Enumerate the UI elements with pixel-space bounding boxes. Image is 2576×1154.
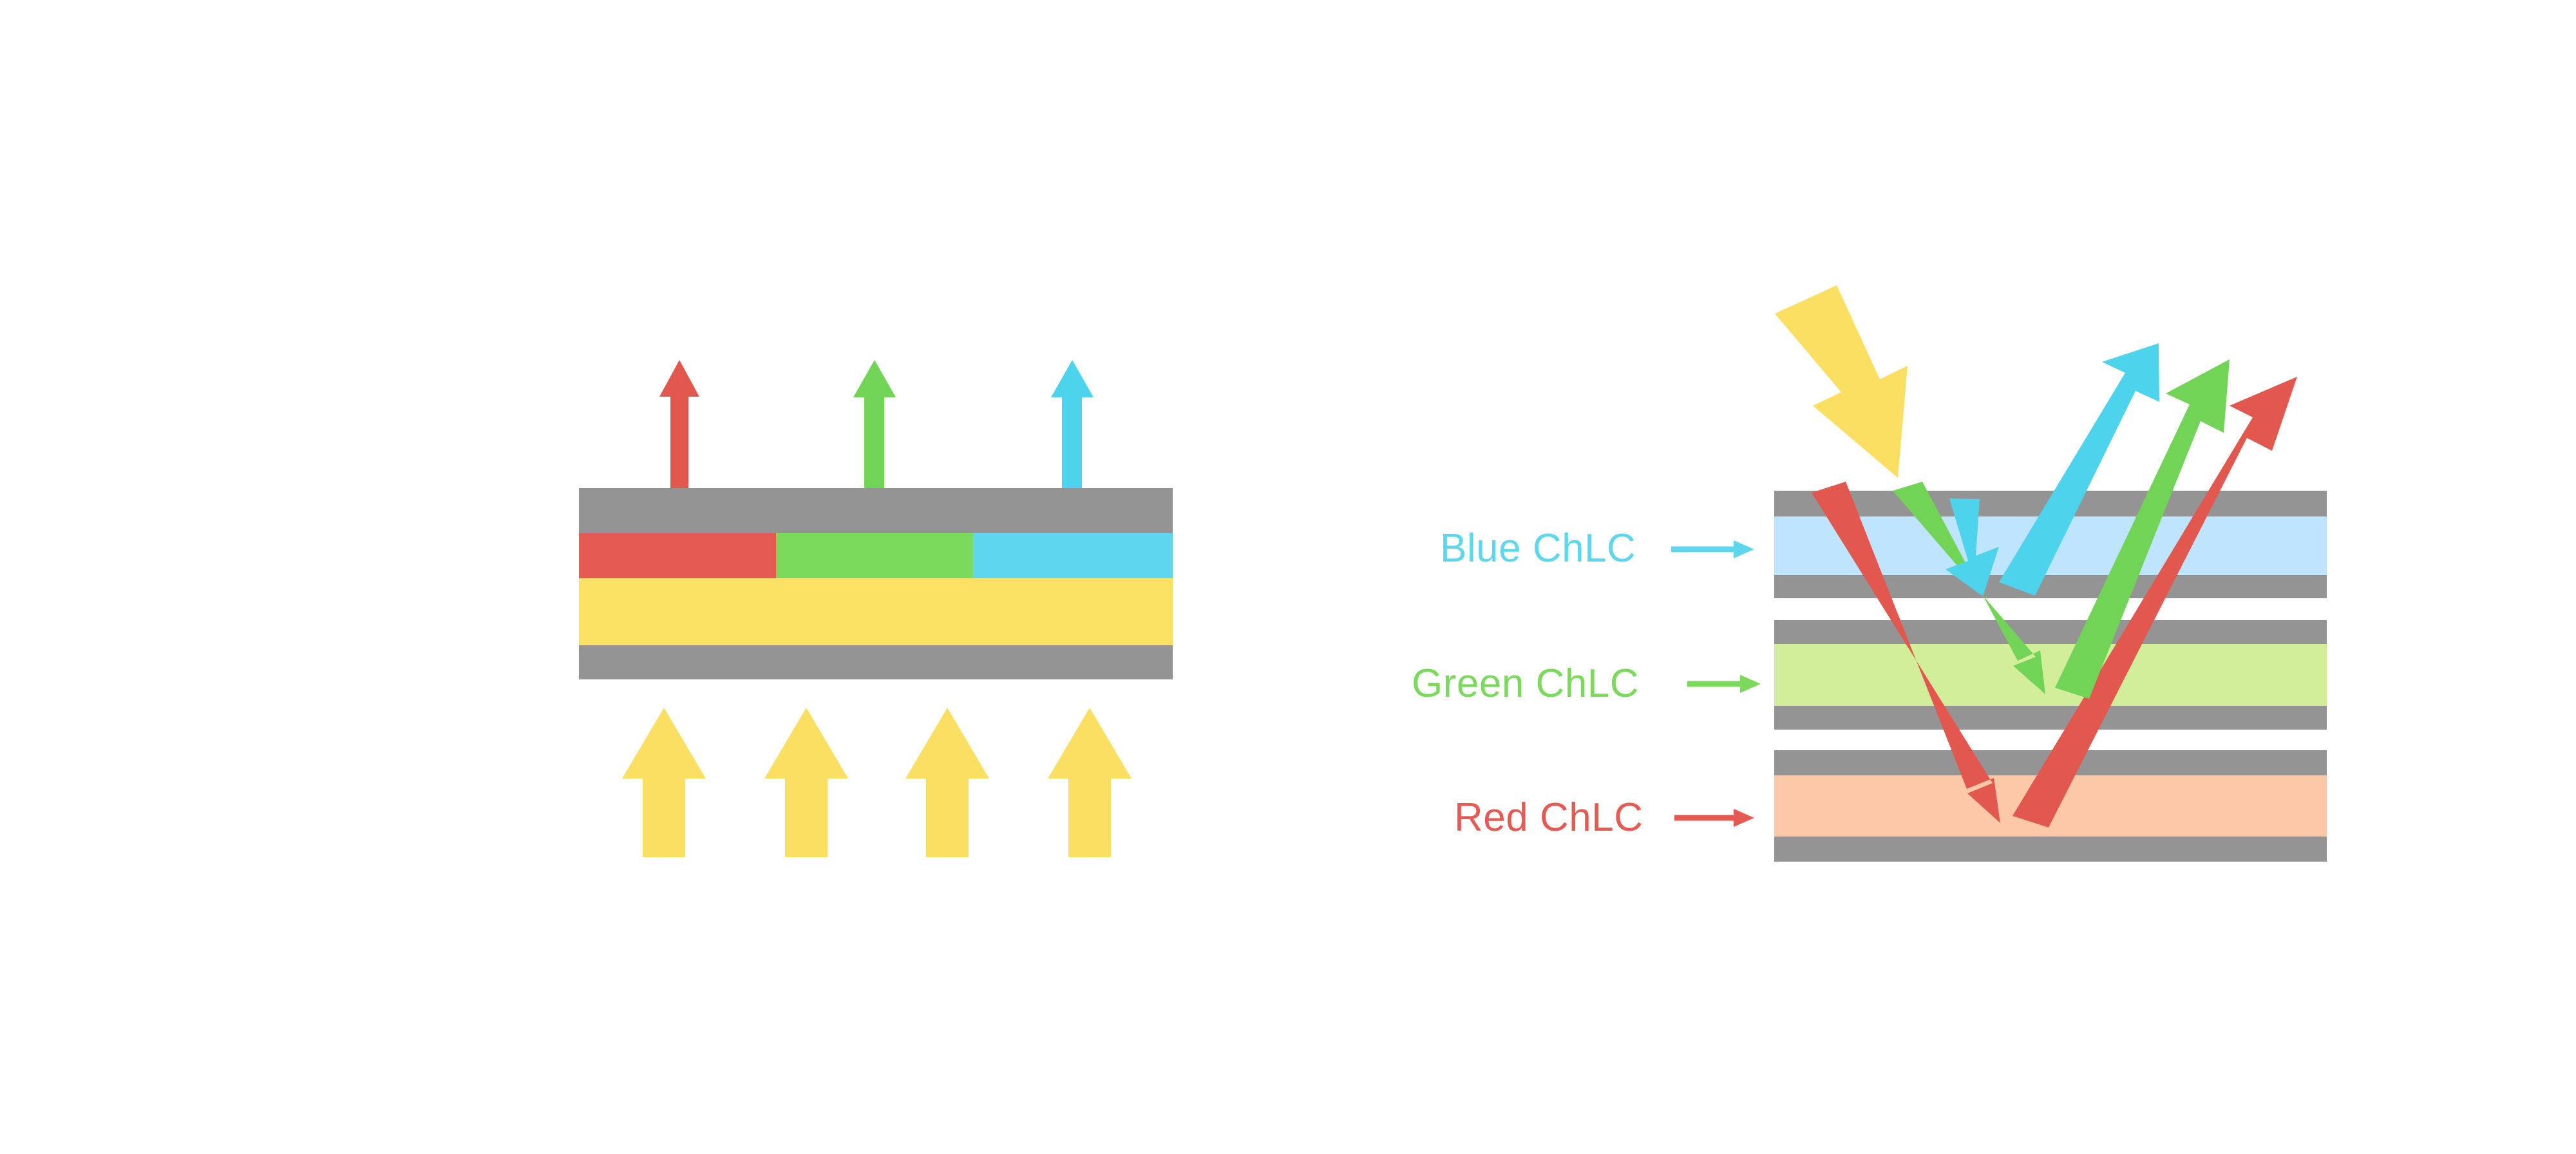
blue-chlc-label: Blue ChLC (1440, 526, 1636, 571)
red-chlc-label: Red ChLC (1454, 795, 1643, 840)
green-chlc-layer (1774, 644, 2327, 706)
chlc-diagram-svg: Blue ChLC Green ChLC Red ChLC (0, 0, 2576, 1154)
backlight-arrow-4 (1048, 708, 1132, 857)
left-red-segment (579, 533, 776, 578)
red-chlc-label-arrow-icon (1674, 809, 1754, 827)
right-panel-group: Blue ChLC Green ChLC Red ChLC (1412, 285, 2327, 862)
ambient-light-arrow (1775, 285, 1908, 478)
red-cell-bottom-electrode (1774, 837, 2327, 862)
green-chlc-label: Green ChLC (1412, 661, 1639, 706)
green-chlc-label-arrow-icon (1687, 675, 1761, 693)
backlight-arrow-1 (622, 708, 706, 857)
right-labels: Blue ChLC Green ChLC Red ChLC (1412, 526, 1761, 840)
backlight-arrow-3 (905, 708, 989, 857)
left-backlight-layer (579, 578, 1173, 645)
left-blue-segment (973, 533, 1173, 578)
green-cell-bottom-electrode (1774, 706, 2327, 730)
left-green-segment (776, 533, 973, 578)
backlight-arrow-2 (764, 708, 848, 857)
left-panel-group (579, 360, 1173, 857)
green-cell-top-electrode (1774, 620, 2327, 644)
left-backlight-arrows (622, 708, 1132, 857)
left-stack (579, 488, 1173, 679)
diagram-canvas: Blue ChLC Green ChLC Red ChLC (0, 0, 2576, 1154)
blue-chlc-label-arrow-icon (1671, 540, 1754, 558)
left-bottom-electrode (579, 645, 1173, 679)
left-top-electrode (579, 488, 1173, 533)
blue-cell-bottom-electrode (1774, 575, 2327, 598)
